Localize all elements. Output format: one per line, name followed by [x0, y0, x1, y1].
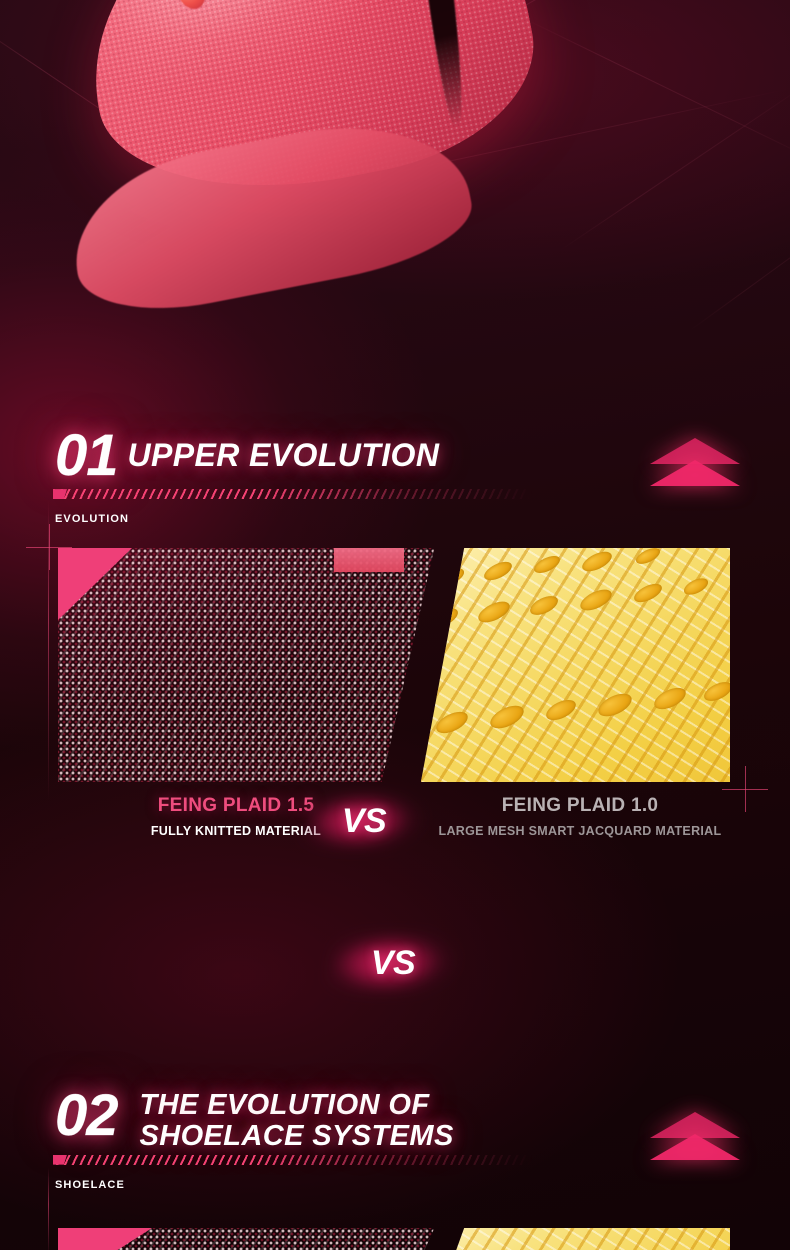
section-tag-label-02: SHOELACE	[55, 1179, 735, 1191]
page-title: UPPER EVOLUTION	[128, 438, 440, 473]
material-comparison-panel	[58, 548, 730, 782]
panel-knit-upper	[58, 548, 434, 782]
shoelace-comparison-panel	[58, 1228, 730, 1250]
page-title-02: THE EVOLUTION OF SHOELACE SYSTEMS	[140, 1090, 454, 1153]
knit-texture	[58, 548, 434, 782]
shoelace-old-texture	[421, 1228, 730, 1250]
product-detail-page: 01 UPPER EVOLUTION EVOLUTION	[0, 0, 790, 1250]
section-shoelace-evolution: 02 THE EVOLUTION OF SHOELACE SYSTEMS SHO…	[55, 1088, 735, 1191]
vs-divider-label: VS	[371, 944, 415, 983]
section-number: 01	[55, 428, 118, 483]
section-upper-evolution: 01 UPPER EVOLUTION EVOLUTION	[55, 428, 735, 525]
fabric-tab	[334, 548, 404, 572]
section-number-02: 02	[55, 1088, 118, 1143]
vs-label: VS	[342, 802, 386, 841]
vs-badge-divider: VS	[330, 932, 456, 994]
hatch-divider-02	[53, 1155, 533, 1165]
mesh-texture	[421, 548, 730, 782]
toe-bumper	[172, 0, 210, 13]
vs-badge-inline: VS	[305, 792, 423, 850]
accent-vertical-line	[48, 500, 49, 800]
panel-mesh-upper	[421, 548, 730, 782]
section-tag-label: EVOLUTION	[55, 513, 735, 525]
comparison-old-material: FEING PLAID 1.0 LARGE MESH SMART JACQUAR…	[410, 795, 750, 838]
accent-vertical-line-02	[48, 1168, 49, 1250]
panel-shoelace-new	[58, 1228, 434, 1250]
panel-shoelace-old	[421, 1228, 730, 1250]
old-material-subtitle: LARGE MESH SMART JACQUARD MATERIAL	[410, 824, 750, 838]
section-01-header: 01 UPPER EVOLUTION	[55, 428, 735, 483]
hero-banner	[0, 0, 790, 250]
old-material-title: FEING PLAID 1.0	[410, 795, 750, 817]
section-02-header: 02 THE EVOLUTION OF SHOELACE SYSTEMS	[55, 1088, 735, 1153]
hatch-divider	[53, 489, 533, 499]
